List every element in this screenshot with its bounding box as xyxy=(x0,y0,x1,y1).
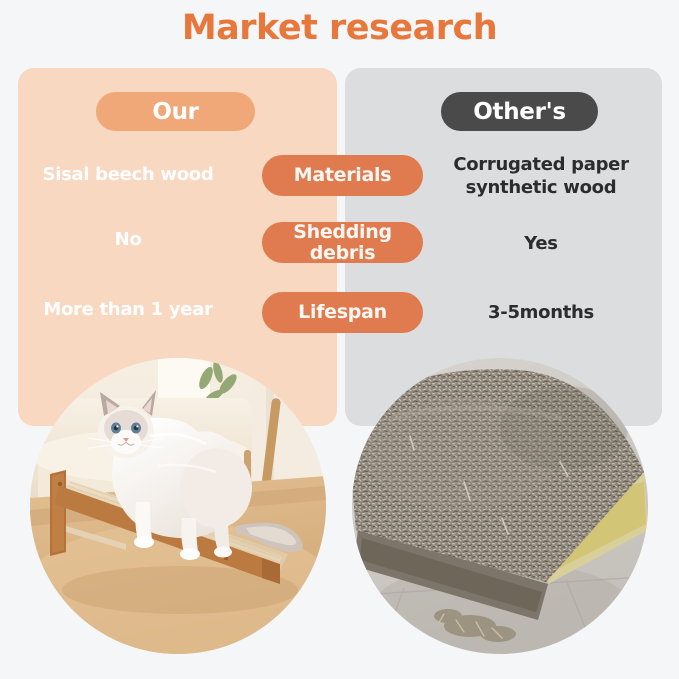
our-value-materials: Sisal beech wood xyxy=(0,164,258,186)
header-pill-other: Other's xyxy=(441,92,598,131)
page-title: Market research xyxy=(0,8,679,48)
other-value-lifespan: 3-5months xyxy=(428,302,654,325)
photo-our-product xyxy=(30,358,326,654)
feature-pill-lifespan: Lifespan xyxy=(262,292,423,333)
our-value-lifespan: More than 1 year xyxy=(0,299,258,321)
photo-other-product xyxy=(352,358,648,654)
header-pill-our: Our xyxy=(96,92,255,131)
feature-pill-shedding-debris: Shedding debris xyxy=(262,222,423,263)
our-value-shedding-debris: No xyxy=(0,229,258,251)
market-research-infographic: Market research Our Other's Sisal beech … xyxy=(0,0,679,679)
other-value-shedding-debris: Yes xyxy=(428,233,654,256)
other-value-materials: Corrugated paper synthetic wood xyxy=(428,154,654,199)
feature-pill-materials: Materials xyxy=(262,155,423,196)
